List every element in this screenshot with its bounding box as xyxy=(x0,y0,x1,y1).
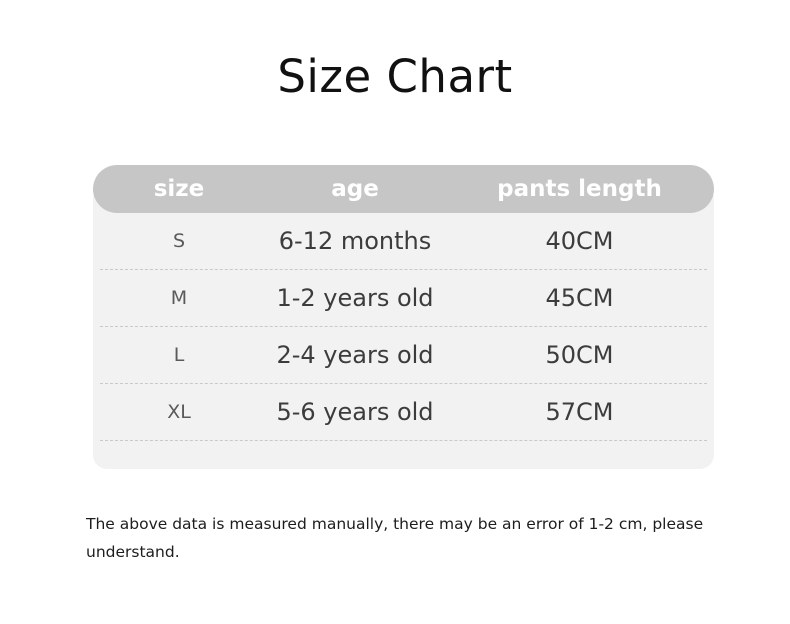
row-separator xyxy=(100,440,707,441)
table-body: S 6-12 months 40CM M 1-2 years old 45CM … xyxy=(93,195,714,469)
table-row: M 1-2 years old 45CM xyxy=(93,270,714,326)
column-header-age: age xyxy=(265,176,445,202)
size-chart-page: Size Chart size age pants length S 6-12 … xyxy=(0,0,790,624)
table-header-row: size age pants length xyxy=(93,165,714,213)
cell-pants-length: 57CM xyxy=(445,398,714,426)
cell-size: XL xyxy=(93,401,265,423)
page-title: Size Chart xyxy=(0,52,790,102)
cell-age: 1-2 years old xyxy=(265,284,445,312)
size-chart-table: size age pants length S 6-12 months 40CM… xyxy=(93,165,714,469)
cell-size: L xyxy=(93,344,265,366)
table-row: S 6-12 months 40CM xyxy=(93,213,714,269)
cell-pants-length: 45CM xyxy=(445,284,714,312)
column-header-pants-length: pants length xyxy=(445,176,714,202)
table-row: L 2-4 years old 50CM xyxy=(93,327,714,383)
measurement-disclaimer: The above data is measured manually, the… xyxy=(86,510,726,566)
cell-age: 2-4 years old xyxy=(265,341,445,369)
cell-age: 6-12 months xyxy=(265,227,445,255)
table-row: XL 5-6 years old 57CM xyxy=(93,384,714,440)
cell-age: 5-6 years old xyxy=(265,398,445,426)
cell-size: M xyxy=(93,287,265,309)
cell-pants-length: 40CM xyxy=(445,227,714,255)
cell-size: S xyxy=(93,230,265,252)
cell-pants-length: 50CM xyxy=(445,341,714,369)
column-header-size: size xyxy=(93,176,265,202)
